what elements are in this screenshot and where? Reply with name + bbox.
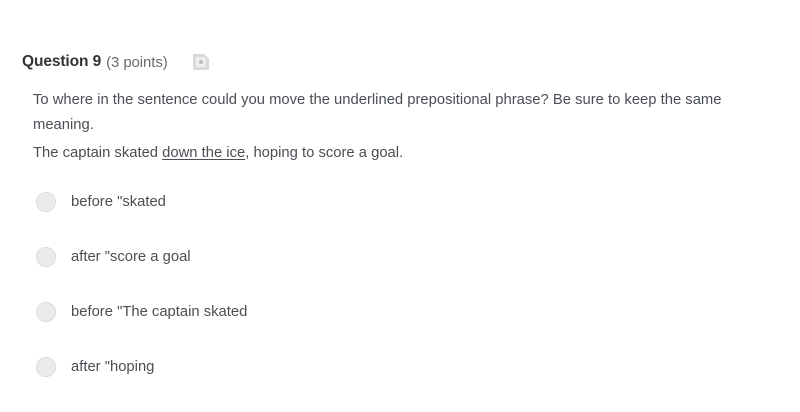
question-body: To where in the sentence could you move …: [33, 88, 733, 166]
save-icon[interactable]: [193, 54, 209, 70]
option-row-3[interactable]: before "The captain skated: [36, 302, 736, 322]
radio-button-2[interactable]: [36, 247, 56, 267]
option-label-2[interactable]: after "score a goal: [71, 247, 191, 267]
question-header: Question 9 (3 points): [22, 52, 209, 72]
option-label-4[interactable]: after "hoping: [71, 357, 154, 377]
save-icon-dot: [199, 60, 203, 64]
question-prompt: To where in the sentence could you move …: [33, 88, 725, 138]
option-row-4[interactable]: after "hoping: [36, 357, 736, 377]
question-title: Question 9: [22, 53, 101, 71]
sentence-before: The captain skated: [33, 145, 162, 161]
sentence-underlined-phrase: down the ice: [162, 145, 245, 161]
answer-options: before "skated after "score a goal befor…: [36, 192, 736, 412]
radio-button-3[interactable]: [36, 302, 56, 322]
sentence-after: , hoping to score a goal.: [245, 145, 403, 161]
save-icon-notch: [204, 54, 209, 59]
option-label-3[interactable]: before "The captain skated: [71, 302, 247, 322]
radio-button-1[interactable]: [36, 192, 56, 212]
option-row-1[interactable]: before "skated: [36, 192, 736, 212]
option-row-2[interactable]: after "score a goal: [36, 247, 736, 267]
question-sentence: The captain skated down the ice, hoping …: [33, 141, 733, 166]
option-label-1[interactable]: before "skated: [71, 192, 166, 212]
question-points: (3 points): [106, 54, 168, 71]
radio-button-4[interactable]: [36, 357, 56, 377]
